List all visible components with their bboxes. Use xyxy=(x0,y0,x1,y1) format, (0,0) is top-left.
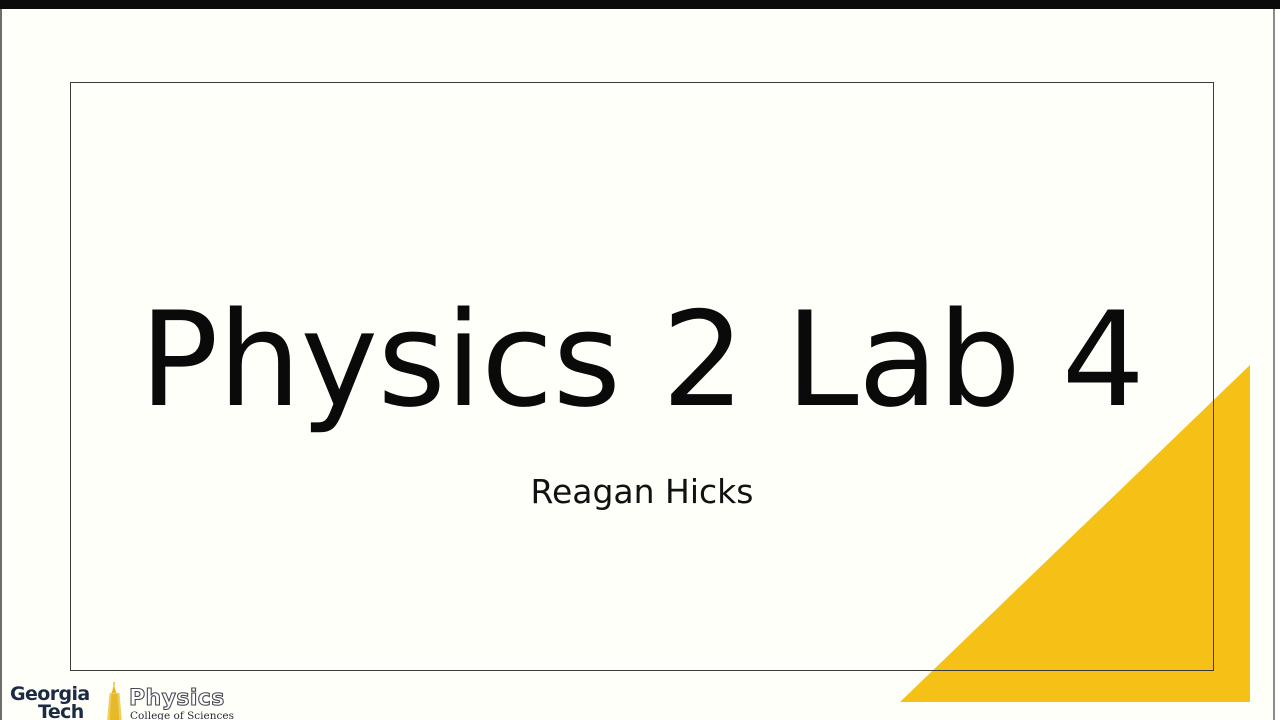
georgia-tech-physics-logo: Georgia Tech Physics College of xyxy=(10,681,242,720)
logo-artwork: Georgia Tech Physics College of xyxy=(10,681,242,720)
slide-canvas: Physics 2 Lab 4 Reagan Hicks Georgia Tec… xyxy=(2,9,1273,720)
svg-text:College of Sciences: College of Sciences xyxy=(130,710,234,720)
letterbox-bar-top xyxy=(0,0,1280,9)
slide-subtitle-author: Reagan Hicks xyxy=(531,475,754,508)
title-text-block: Physics 2 Lab 4 Reagan Hicks xyxy=(70,82,1214,671)
svg-text:Tech: Tech xyxy=(38,701,84,720)
frame-edge-left xyxy=(0,9,2,720)
tech-tower-icon xyxy=(107,682,122,720)
physics-department-wordmark: Physics xyxy=(129,686,225,711)
slide-title: Physics 2 Lab 4 xyxy=(140,294,1145,425)
svg-text:Physics: Physics xyxy=(129,686,225,711)
frame-edge-right-fill xyxy=(1275,9,1280,720)
presentation-slide: Physics 2 Lab 4 Reagan Hicks Georgia Tec… xyxy=(0,0,1280,720)
college-of-sciences-label: College of Sciences xyxy=(130,710,234,720)
georgia-tech-wordmark: Georgia Tech xyxy=(10,683,90,720)
